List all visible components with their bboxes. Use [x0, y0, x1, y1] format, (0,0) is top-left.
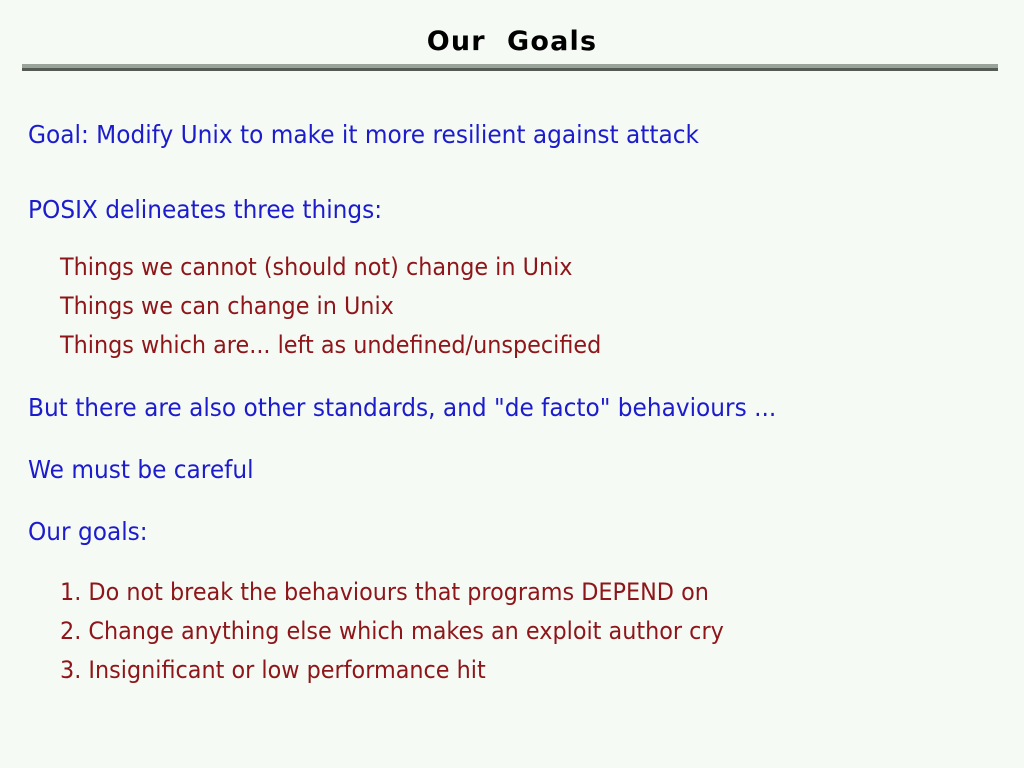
posix-item-2: Things we can change in Unix	[60, 292, 394, 321]
our-goals-item-1: 1. Do not break the behaviours that prog…	[60, 578, 709, 607]
posix-item-3: Things which are... left as undefined/un…	[60, 331, 601, 360]
slide: Our Goals Goal: Modify Unix to make it m…	[0, 0, 1024, 768]
posix-heading: POSIX delineates three things:	[28, 195, 382, 225]
our-goals-item-3: 3. Insignificant or low performance hit	[60, 656, 486, 685]
divider-band-dark	[22, 68, 998, 71]
title-divider	[22, 64, 998, 71]
posix-item-1: Things we cannot (should not) change in …	[60, 253, 573, 282]
our-goals-heading: Our goals:	[28, 517, 148, 547]
goal-statement: Goal: Modify Unix to make it more resili…	[28, 120, 699, 150]
page-title: Our Goals	[0, 26, 1024, 58]
other-standards-statement: But there are also other standards, and …	[28, 393, 776, 423]
our-goals-item-2: 2. Change anything else which makes an e…	[60, 617, 724, 646]
slide-body: Goal: Modify Unix to make it more resili…	[0, 108, 1024, 748]
be-careful-statement: We must be careful	[28, 455, 254, 485]
